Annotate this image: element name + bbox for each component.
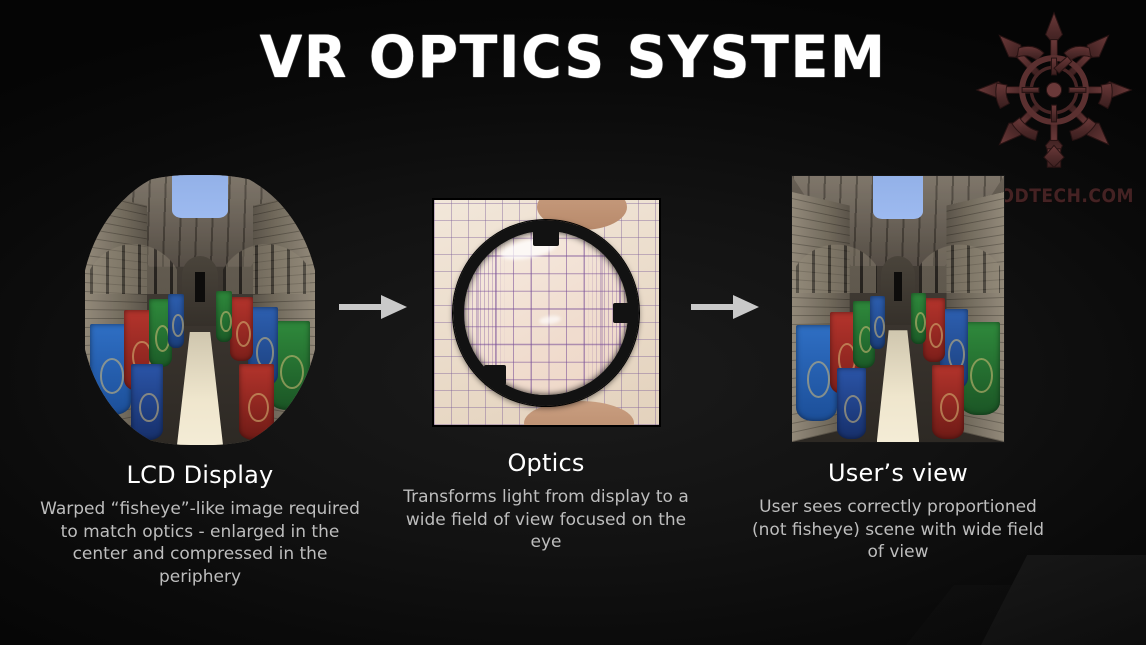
scene-banner: [131, 364, 163, 440]
scene-apse-door: [894, 272, 902, 301]
game-emblem-logo: [970, 2, 1138, 178]
caption-body-user: User sees correctly proportioned (not fi…: [748, 496, 1048, 564]
scene-arches-right: [919, 224, 1000, 293]
lens-tab-bottom-left: [484, 365, 506, 385]
scene-banner: [230, 297, 253, 362]
panel-users-view: User’s view User sees correctly proporti…: [748, 170, 1048, 564]
lcd-display-image: [85, 175, 315, 445]
scene-banner: [911, 293, 926, 344]
lens-tab-right: [613, 303, 631, 323]
users-view-image: [791, 175, 1005, 443]
optics-lens-photo: [432, 198, 661, 427]
caption-body-lcd: Warped “fisheye”-like image required to …: [40, 498, 360, 588]
scene-banner: [923, 298, 944, 362]
panel-optics: Optics Transforms light from display to …: [396, 170, 696, 554]
scene-sky: [873, 176, 924, 219]
graph-paper-background: [434, 200, 659, 425]
scene-banner: [932, 365, 964, 439]
scene-sky: [172, 175, 227, 218]
corner-accent-shape: [981, 555, 1146, 645]
scene-banner: [837, 368, 867, 440]
panel-lcd-display: LCD Display Warped “fisheye”-like image …: [40, 170, 360, 588]
caption-title-lcd: LCD Display: [40, 461, 360, 489]
scene-banner: [870, 296, 885, 349]
scene-arches-right: [223, 224, 310, 294]
caption-title-user: User’s view: [748, 459, 1048, 487]
caption-title-optics: Optics: [396, 449, 696, 477]
scene-banner: [239, 364, 274, 440]
scene-apse-door: [195, 272, 204, 302]
caption-body-optics: Transforms light from display to a wide …: [396, 486, 696, 554]
scene-banner: [216, 291, 232, 342]
scene-arches-left: [90, 224, 177, 294]
corner-accent-shape-outer: [906, 585, 1146, 645]
scene-arches-left: [796, 224, 877, 293]
lens-ring: [453, 220, 639, 406]
scene-banner: [168, 294, 184, 348]
lens-tab-top: [533, 228, 559, 246]
slide-canvas: VR OPTICS SYSTEM: [0, 0, 1146, 645]
